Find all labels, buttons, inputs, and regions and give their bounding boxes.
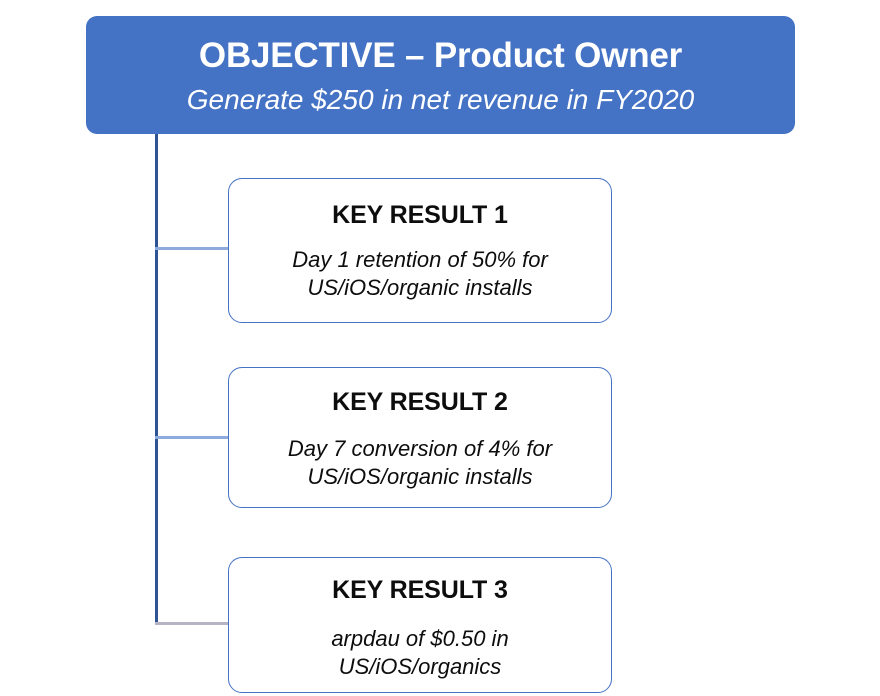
connector-branch-key-result-1: [155, 247, 230, 250]
connector-trunk-line: [155, 132, 158, 625]
objective-title: OBJECTIVE – Product Owner: [199, 36, 682, 75]
key-result-1-body: Day 1 retention of 50% for US/iOS/organi…: [278, 246, 562, 302]
key-result-2-body: Day 7 conversion of 4% for US/iOS/organi…: [274, 435, 566, 491]
key-result-1-box[interactable]: KEY RESULT 1 Day 1 retention of 50% for …: [228, 178, 612, 323]
key-result-1-body-line-1: Day 1 retention of 50% for: [292, 246, 548, 274]
connector-branch-key-result-3: [155, 622, 230, 625]
key-result-2-box[interactable]: KEY RESULT 2 Day 7 conversion of 4% for …: [228, 367, 612, 508]
key-result-3-box[interactable]: KEY RESULT 3 arpdau of $0.50 in US/iOS/o…: [228, 557, 612, 693]
okr-diagram-canvas: OBJECTIVE – Product Owner Generate $250 …: [0, 0, 880, 696]
connector-branch-key-result-2: [155, 436, 230, 439]
objective-subtitle: Generate $250 in net revenue in FY2020: [187, 83, 694, 117]
key-result-2-body-line-2: US/iOS/organic installs: [288, 463, 552, 491]
key-result-3-body: arpdau of $0.50 in US/iOS/organics: [317, 625, 522, 681]
key-result-1-title: KEY RESULT 1: [332, 201, 508, 230]
key-result-2-title: KEY RESULT 2: [332, 388, 508, 417]
key-result-3-body-line-2: US/iOS/organics: [331, 653, 508, 681]
key-result-3-title: KEY RESULT 3: [332, 576, 508, 605]
objective-box[interactable]: OBJECTIVE – Product Owner Generate $250 …: [86, 16, 795, 134]
key-result-2-body-line-1: Day 7 conversion of 4% for: [288, 435, 552, 463]
key-result-3-body-line-1: arpdau of $0.50 in: [331, 625, 508, 653]
key-result-1-body-line-2: US/iOS/organic installs: [292, 274, 548, 302]
